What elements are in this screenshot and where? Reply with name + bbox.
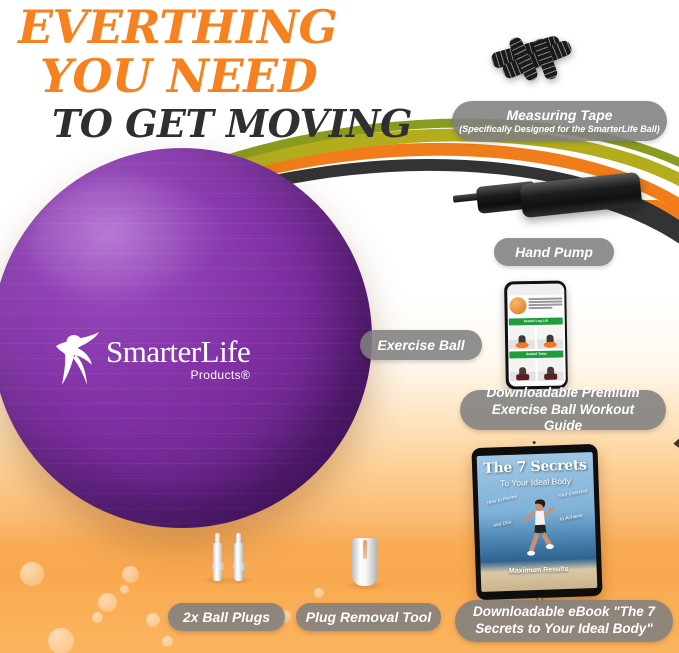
headline-block: EVERTHING YOU NEED TO GET MOVING [18,4,418,143]
text-line [528,304,562,306]
callout-ebook[interactable]: Downloadable eBook "The 7 Secrets to You… [455,600,673,642]
guide-intro [507,295,564,317]
bokeh-circle [20,562,44,586]
bokeh-circle [98,593,117,612]
ebook-cover: The 7 Secrets To Your Ideal Body How to … [477,452,598,592]
guide-photo-row-2 [508,358,565,381]
guide-badge-icon [509,297,526,314]
brand-wordmark: SmarterLife Products® [106,336,250,381]
callout-title: Hand Pump [515,244,593,261]
exercise-photo [509,327,536,349]
ball-plug-image [212,533,223,581]
pump-barrel [520,172,643,218]
ebook-tablet: The 7 Secrets To Your Ideal Body How to … [471,444,602,600]
figure-icon [519,335,526,347]
guide-section-header-1: Seated Leg Lift [509,318,563,326]
text-line [528,307,552,309]
ebook-keyword: Maximum Results [481,565,597,576]
plug-flange [233,563,245,570]
text-line [528,298,562,300]
text-line [528,301,562,303]
callout-title-line-2: Exercise Ball Workout Guide [472,402,654,436]
figure-icon [547,367,554,379]
callout-hand-pump[interactable]: Hand Pump [494,238,614,266]
callout-ball-plugs[interactable]: 2x Ball Plugs [168,603,285,631]
plug-removal-tool-image [352,538,378,586]
ebook-subtitle: To Your Ideal Body [477,476,593,489]
callout-measuring-tape[interactable]: Measuring Tape (Specifically Designed fo… [452,101,667,141]
ball-plug-image [233,533,244,581]
workout-guide-phone: Seated Leg Lift Seated Twist [504,280,568,389]
product-infographic: EVERTHING YOU NEED TO GET MOVING Smarter… [0,0,679,653]
callout-title-line-1: Downloadable eBook "The 7 [473,604,655,621]
headline-line-3: TO GET MOVING [52,105,418,143]
ebook-keyword: and Diet [493,520,512,529]
exercise-photo [537,326,564,348]
bokeh-circle [120,585,129,594]
exercise-photo [509,359,536,381]
tool-fork-slot [363,540,367,559]
guide-section-header-2: Seated Twist [509,350,563,358]
callout-title: Exercise Ball [377,337,464,354]
guide-photo-row-1 [507,326,564,349]
callout-title: Plug Removal Tool [306,609,432,626]
ebook-title: The 7 Secrets [477,458,593,477]
ebook-keyword: How to Refine [486,494,518,506]
phone-screen: Seated Leg Lift Seated Twist [507,284,566,387]
callout-subtitle: (Specifically Designed for the SmarterLi… [459,124,660,135]
callout-workout-guide[interactable]: Downloadable Premium Exercise Ball Worko… [460,390,666,430]
plug-body [213,543,222,581]
bokeh-circle [92,612,103,623]
plug-body [234,543,243,581]
callout-title-line-2: Secrets to Your Ideal Body" [475,621,652,638]
bokeh-circle [48,628,74,653]
headline-line-2: YOU NEED [40,53,418,99]
brand-tagline: Products® [106,369,250,381]
callout-removal-tool[interactable]: Plug Removal Tool [296,603,441,631]
callout-exercise-ball[interactable]: Exercise Ball [360,330,482,360]
exercise-photo [537,359,564,381]
guide-text-lines [528,297,562,309]
tablet-camera-icon [533,441,536,444]
measuring-tape-image [487,30,587,92]
bokeh-circle [146,613,160,627]
brand-logo: SmarterLife Products® [52,322,267,394]
bokeh-circle [162,636,173,647]
hand-pump-image [443,170,648,228]
callout-title: 2x Ball Plugs [183,609,270,626]
callout-title-line-1: Downloadable Premium [486,385,639,402]
callout-title: Measuring Tape [506,107,612,124]
ebook-keyword: to Achieve [559,513,583,523]
running-figure-icon [52,329,104,387]
plug-flange [212,563,224,570]
runner-photo-icon [521,497,557,560]
brand-name: SmarterLife [106,336,250,367]
figure-icon [519,367,526,379]
ebook-keyword: Your Exercise [557,488,588,499]
headline-line-1: EVERTHING [18,4,418,50]
figure-icon [546,334,553,346]
